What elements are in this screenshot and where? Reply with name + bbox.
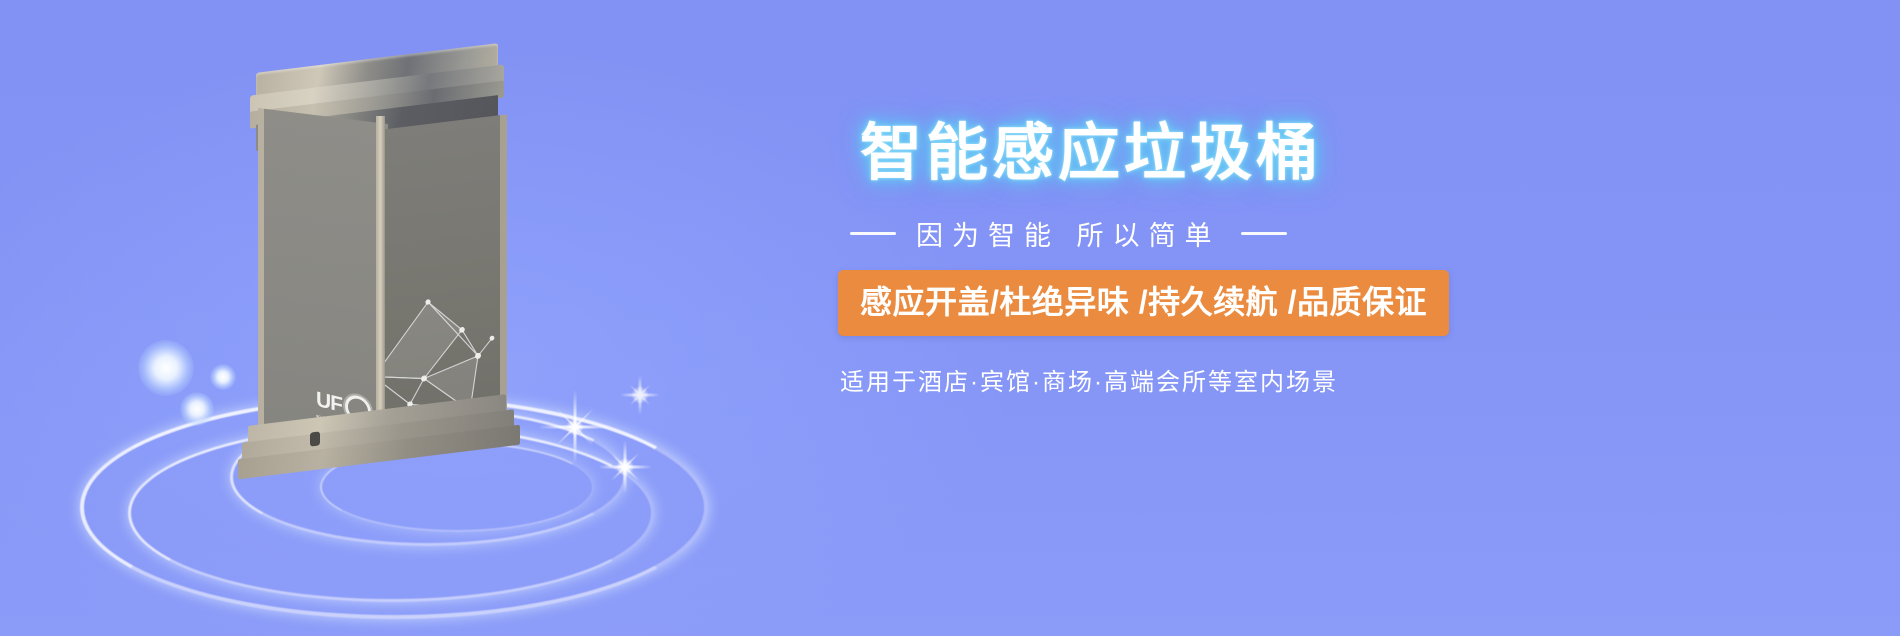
promo-banner: UF 智能感应垃圾桶 深圳市优福欧智能科技有限公司	[0, 0, 1900, 636]
bin-face-left: UF 智能感应垃圾桶 深圳市优福欧智能科技有限公司	[258, 108, 388, 442]
logo-wordmark: UF	[316, 389, 342, 414]
bin-face-right	[382, 114, 507, 439]
glow-dot-icon	[180, 392, 214, 426]
feature-badge-text: 感应开盖/杜绝异味 /持久续航 /品质保证	[860, 283, 1427, 321]
subtitle-row: 因为智能 所以简单	[850, 214, 1287, 253]
subtitle-rule-right	[1241, 232, 1287, 235]
glow-dot-icon	[138, 340, 194, 396]
usage-scenario-note: 适用于酒店·宾馆·商场·高端会所等室内场景	[840, 362, 1338, 397]
sparkle-icon	[620, 375, 660, 415]
feature-badge: 感应开盖/杜绝异味 /持久续航 /品质保证	[838, 270, 1449, 336]
bin-base-sensor-slot	[310, 431, 320, 446]
sparkle-icon	[598, 440, 652, 494]
bin-corner-edge	[376, 116, 385, 438]
headline: 智能感应垃圾桶	[860, 118, 1322, 190]
product-scene: UF 智能感应垃圾桶 深圳市优福欧智能科技有限公司	[60, 20, 760, 620]
product-image-trash-bin: UF 智能感应垃圾桶 深圳市优福欧智能科技有限公司	[228, 58, 538, 458]
banner-copy: 智能感应垃圾桶 因为智能 所以简单 感应开盖/杜绝异味 /持久续航 /品质保证 …	[860, 0, 1860, 636]
subtitle-rule-left	[850, 232, 896, 235]
subtitle: 因为智能 所以简单	[916, 214, 1221, 253]
